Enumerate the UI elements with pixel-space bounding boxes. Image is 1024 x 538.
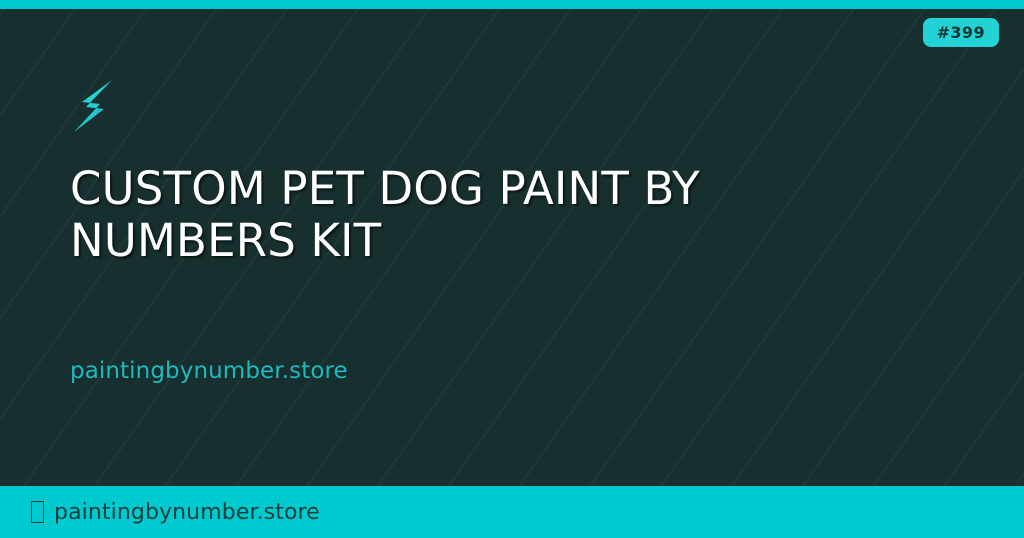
page-title: CUSTOM PET DOG PAINT BY NUMBERS KIT xyxy=(70,163,810,267)
diagonal-stripe-pattern xyxy=(0,0,1024,538)
promo-card: #399 CUSTOM PET DOG PAINT BY NUMBERS KIT… xyxy=(0,0,1024,538)
footer-bar: paintingbynumber.store xyxy=(0,486,1024,538)
footer-site-label: paintingbynumber.store xyxy=(54,500,320,525)
top-accent-bar xyxy=(0,0,1024,9)
status-badge[interactable]: #399 xyxy=(923,18,999,47)
lightning-bolt-icon xyxy=(70,78,118,134)
missing-glyph-box-icon xyxy=(31,501,44,523)
site-link[interactable]: paintingbynumber.store xyxy=(70,358,348,384)
